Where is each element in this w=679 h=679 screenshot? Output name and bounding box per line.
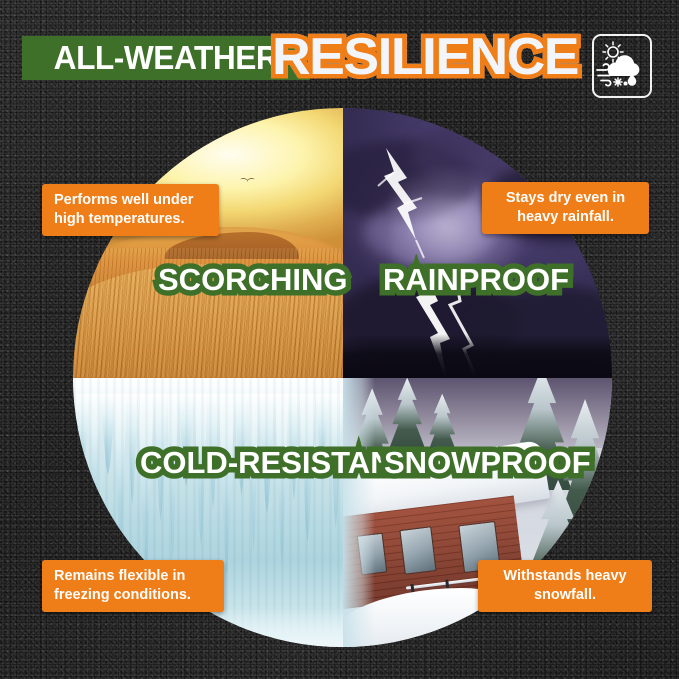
cabin-window — [399, 527, 436, 576]
header-title-resilience-text: RESILIENCE — [272, 27, 578, 87]
storm-scene — [343, 108, 613, 378]
storm-treeline — [343, 334, 613, 377]
bird-icon — [240, 178, 256, 185]
quadrant-scorching — [73, 108, 343, 378]
header-banner: ALL-WEATHER RESILIENCE — [0, 0, 679, 110]
label-cold-resistant: COLD-RESISTANT — [140, 445, 412, 481]
label-rainproof-text: RAINPROOF — [383, 262, 569, 297]
label-snowproof-text: SNOWPROOF — [384, 445, 591, 480]
callout-cold-resistant: Remains flexible in freezing conditions. — [42, 560, 224, 612]
ice-floor — [73, 609, 343, 647]
callout-scorching: Performs well under high temperatures. — [42, 184, 219, 236]
callout-snowproof: Withstands heavy snowfall. — [478, 560, 652, 612]
snow-edge-highlight — [343, 378, 375, 648]
weather-mixed-icon — [592, 34, 652, 98]
header-title-resilience: RESILIENCE — [272, 22, 578, 92]
label-scorching: SCORCHING — [158, 262, 347, 298]
poster-canvas: ALL-WEATHER RESILIENCE — [0, 0, 679, 679]
label-rainproof: RAINPROOF — [383, 262, 569, 298]
label-scorching-text: SCORCHING — [158, 262, 347, 297]
callout-rainproof: Stays dry even in heavy rainfall. — [482, 182, 649, 234]
quadrant-rainproof — [343, 108, 613, 378]
header-title-all-weather: ALL-WEATHER — [28, 36, 304, 80]
label-snowproof: SNOWPROOF — [384, 445, 591, 481]
lightning-bolt-icon — [364, 146, 454, 266]
label-cold-resistant-text: COLD-RESISTANT — [140, 445, 412, 480]
desert-scene — [73, 108, 343, 378]
